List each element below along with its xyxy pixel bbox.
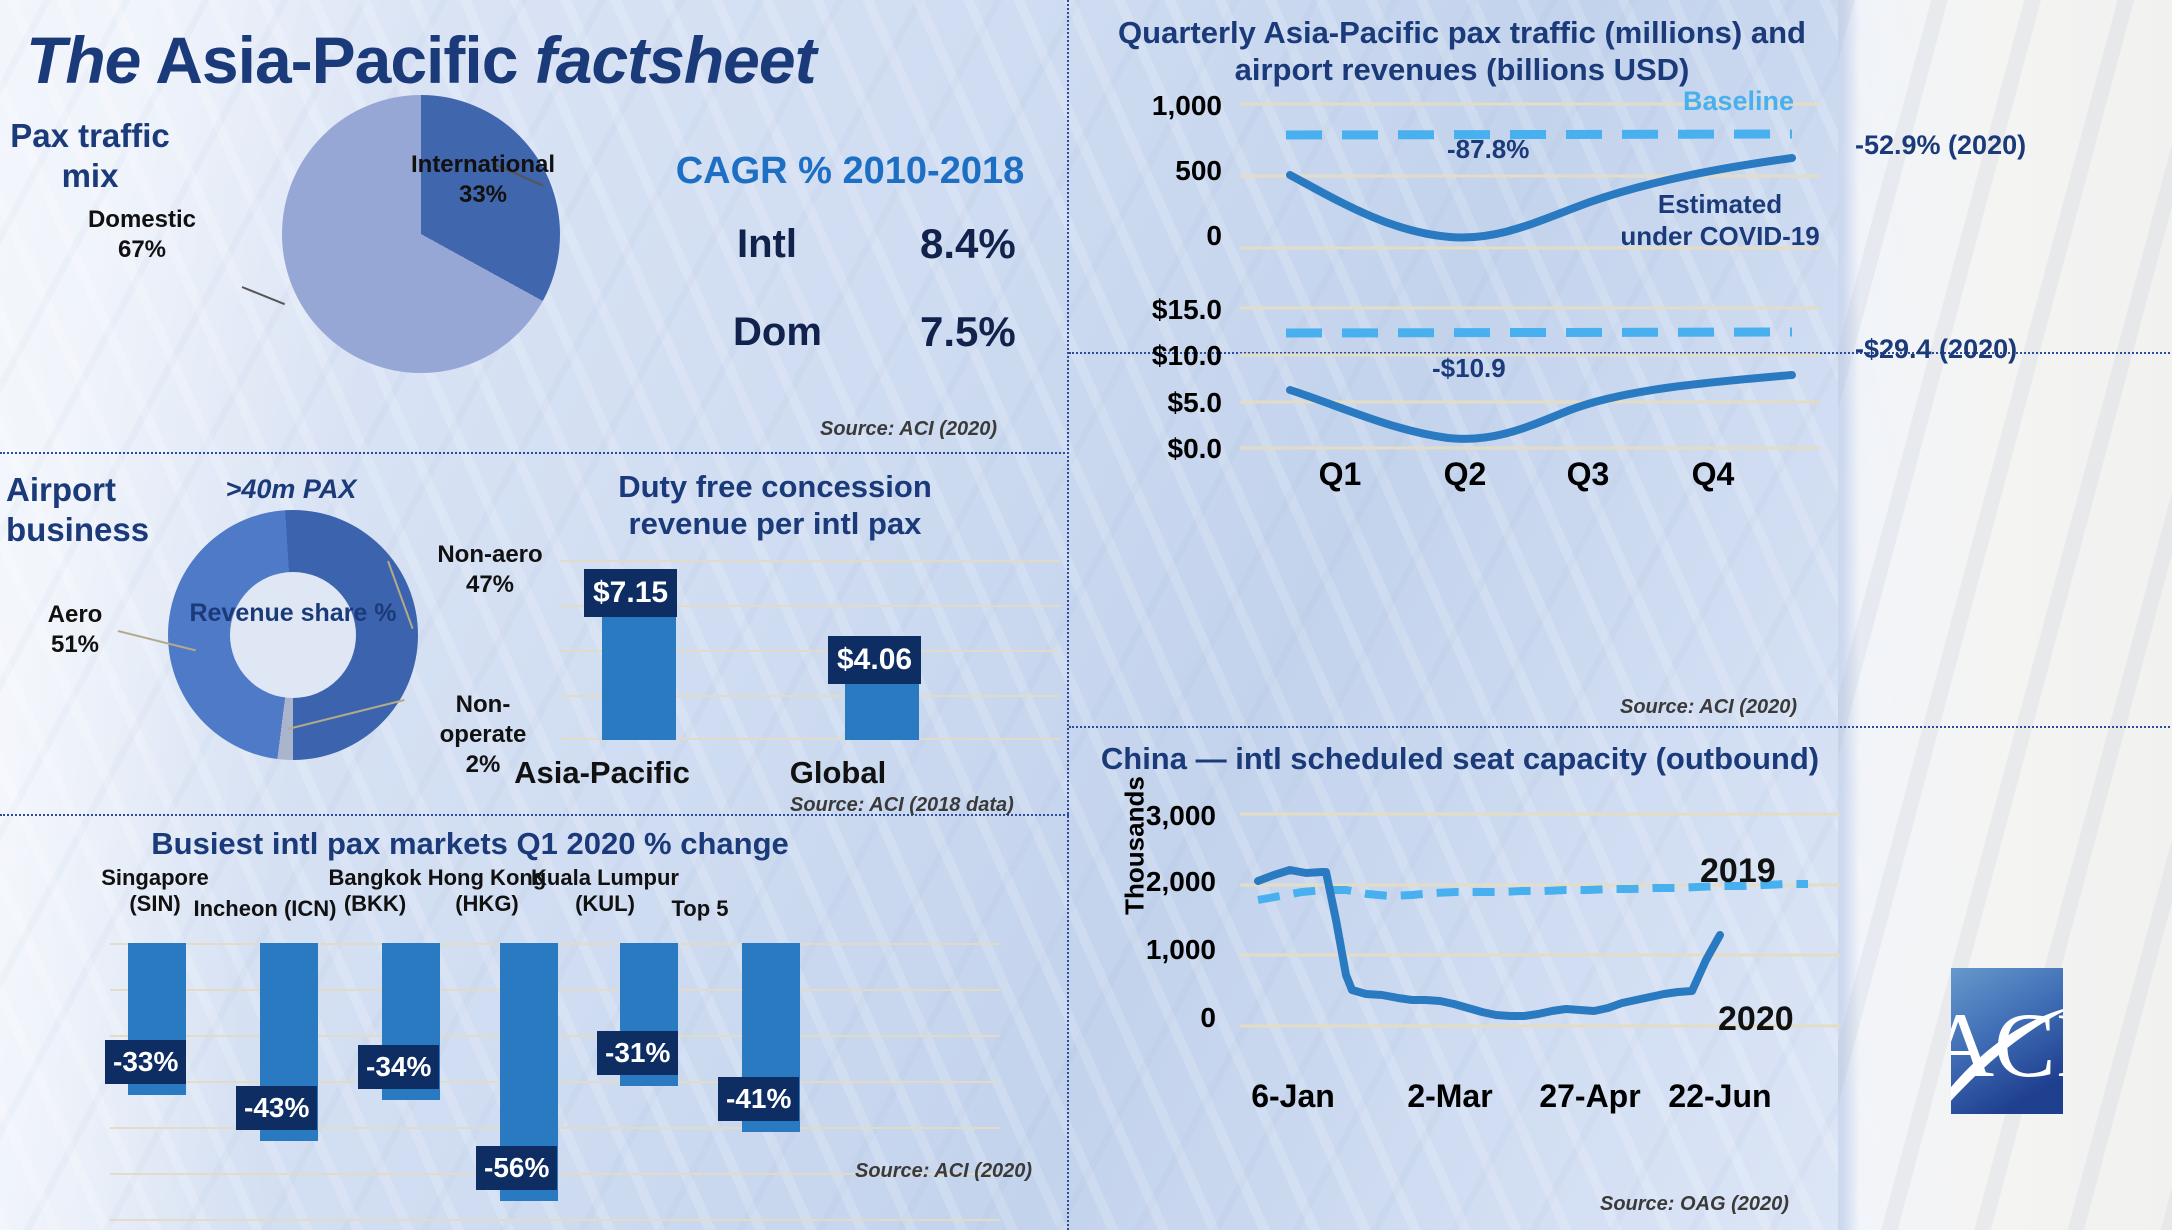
quarterly-covid-label: Estimated under COVID-19 [1620,189,1820,252]
aci-logo: ACI [1951,968,2063,1114]
donut-label-nonaero: Non-aero 47% [410,540,570,600]
china-ylabel: Thousands [1120,771,1151,921]
quarterly-xtick-q4: Q4 [1673,456,1753,493]
china-title: China — intl scheduled seat capacity (ou… [1080,740,1840,777]
cat-line2: (KUL) [575,891,635,916]
busiest-value-icn: -43% [236,1086,317,1130]
page-title-mid: Asia-Pacific [140,23,534,97]
quarterly-revenue-chart [1240,302,1820,450]
cagr-value-intl: 8.4% [920,220,1016,268]
china-ytick-3000: 3,000 [1090,800,1216,832]
pie-label-domestic-pct: 67% [118,236,166,263]
donut-label-nonaero-pct: 47% [466,571,514,598]
gridline [560,560,1060,562]
gridline [110,1219,1000,1221]
donut-hole [230,572,356,698]
quarterly-pax-drop-label: -87.8% [1447,134,1529,165]
china-ytick-2000: 2,000 [1090,866,1216,898]
quarterly-rev-ytick-0: $0.0 [1060,433,1222,465]
donut-label-aero-name: Aero [48,601,103,628]
pie-label-domestic-name: Domestic [88,206,196,233]
cagr-label-dom: Dom [733,310,822,355]
duty-free-value-global: $4.06 [828,636,921,684]
quarterly-rev-ytick-5: $5.0 [1060,387,1222,419]
duty-free-chart: $7.15 $4.06 [560,560,1060,740]
quarterly-source: Source: ACI (2020) [1620,696,1797,719]
busiest-value-hkg: -56% [476,1146,557,1190]
pie-label-domestic: Domestic 67% [72,205,212,265]
quarterly-xtick-q1: Q1 [1300,456,1380,493]
pax-mix-label: Pax traffic mix [0,116,180,197]
busiest-value-bkk: -34% [358,1045,439,1089]
china-xtick-6jan: 6-Jan [1213,1078,1373,1115]
busiest-markets-title: Busiest intl pax markets Q1 2020 % chang… [100,826,840,862]
cat-line2: (SIN) [129,891,180,916]
pax-mix-pie-chart [282,95,560,373]
pie-label-international: International 33% [368,150,598,210]
busiest-markets-category-5: Top 5 [640,896,760,922]
duty-free-category-global: Global [748,755,928,791]
cat-line1: Singapore [101,865,209,890]
cagr-title: CAGR % 2010-2018 [640,150,1060,193]
china-series-label-2020: 2020 [1718,1000,1794,1039]
cagr-value-dom: 7.5% [920,308,1016,356]
cat-line2: (BKK) [344,891,406,916]
quarterly-baseline-label: Baseline [1683,86,1794,117]
china-series-label-2019: 2019 [1700,852,1776,891]
page-title-post: factsheet [535,23,816,97]
donut-label-nonoperate-name: Non-operate [440,691,527,748]
donut-center-label: Revenue share % [168,598,418,629]
quarterly-pax-ytick-0: 0 [1090,220,1222,252]
china-seat-capacity-chart [1240,810,1840,1030]
airport-business-overline: >40m PAX [176,474,406,505]
pie-label-international-pct: 33% [459,181,507,208]
quarterly-rev-ytick-15: $15.0 [1060,294,1222,326]
duty-free-category-asia-pacific: Asia-Pacific [482,755,722,791]
busiest-value-sin: -33% [105,1040,186,1084]
quarterly-rev-ytick-10: $10.0 [1060,340,1222,372]
busiest-value-kul: -31% [597,1031,678,1075]
quarterly-xtick-q2: Q2 [1425,456,1505,493]
cat-line1: Kuala Lumpur [531,865,679,890]
quarterly-pax-side-annotation: -52.9% (2020) [1855,130,2026,161]
cat-line1: Top 5 [671,896,728,921]
busiest-markets-source: Source: ACI (2020) [855,1160,1032,1183]
china-source: Source: OAG (2020) [1600,1193,1789,1216]
duty-free-title: Duty free concession revenue per intl pa… [560,468,990,542]
quarterly-rev-side-annotation: -$29.4 (2020) [1855,334,2017,365]
china-ytick-1000: 1,000 [1090,934,1216,966]
pax-mix-source: Source: ACI (2020) [820,418,997,441]
quarterly-pax-ytick-1000: 1,000 [1090,90,1222,122]
revenue-share-donut-chart: Revenue share % [168,510,418,760]
quarterly-title: Quarterly Asia-Pacific pax traffic (mill… [1112,14,1812,88]
duty-free-value-asia-pacific: $7.15 [584,569,677,617]
china-xtick-22jun: 22-Jun [1630,1078,1810,1115]
china-ytick-0: 0 [1090,1002,1216,1034]
cat-line1: Bangkok [329,865,422,890]
donut-label-aero-pct: 51% [51,631,99,658]
page-title-pre: The [26,23,140,97]
cagr-label-intl: Intl [737,222,797,267]
quarterly-xtick-q3: Q3 [1548,456,1628,493]
busiest-value-top5: -41% [718,1077,799,1121]
duty-free-source: Source: ACI (2018 data) [790,794,1014,817]
quarterly-rev-drop-label: -$10.9 [1432,353,1506,384]
quarterly-pax-ytick-500: 500 [1090,155,1222,187]
page-title: The Asia-Pacific factsheet [26,22,816,98]
donut-label-aero: Aero 51% [20,600,130,660]
pie-label-international-name: International [411,151,555,178]
donut-label-nonaero-name: Non-aero [437,541,542,568]
